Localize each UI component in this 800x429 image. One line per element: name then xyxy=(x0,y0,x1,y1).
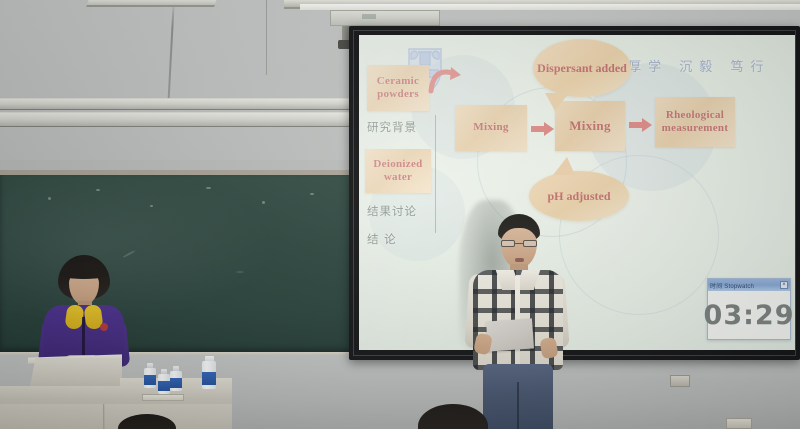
standing-presenter xyxy=(455,214,575,429)
presenter-hand-right xyxy=(539,337,558,359)
presenter-jeans-seam xyxy=(517,382,519,429)
callout-tail xyxy=(553,157,575,175)
flow-callout-ph-label: pH adjusted xyxy=(547,189,610,203)
close-icon[interactable]: × xyxy=(780,281,788,289)
screen-mount-bracket xyxy=(330,10,440,26)
flow-box-ceramic-powders: Ceramic powders xyxy=(367,65,429,111)
timer-value: 03:29 xyxy=(708,291,790,339)
wall-mounted-box xyxy=(670,375,690,387)
countdown-timer-window[interactable]: 时间 Stopwatch × 03:29 xyxy=(707,278,791,340)
timer-titlebar[interactable]: 时间 Stopwatch × xyxy=(708,279,790,291)
flow-callout-dispersant-added: Dispersant added xyxy=(533,39,631,97)
flow-box-rheological-measurement: Rheological measurement xyxy=(655,97,735,147)
flow-arrow-curved-icon xyxy=(427,65,465,97)
ceiling-fluorescent-light-left xyxy=(86,0,218,7)
screen-mount-label xyxy=(362,14,376,19)
timer-window-title: 时间 Stopwatch xyxy=(710,281,754,290)
flow-box-deionized-water: Deionized water xyxy=(365,149,431,193)
presenter-mouth xyxy=(515,258,524,262)
wall-plate xyxy=(726,418,752,429)
hoodie-logo xyxy=(100,323,108,331)
flow-box-mixing-1: Mixing xyxy=(455,105,527,151)
sliding-board-rail-lower xyxy=(0,112,352,127)
callout-tail xyxy=(545,93,569,111)
wall-crack-secondary xyxy=(266,0,267,75)
presenter-glasses xyxy=(501,240,537,247)
presenter-paper-notes xyxy=(486,318,534,351)
projected-slide: 大学 UNIVERSITY 明德 厚学 沉毅 笃行 研究背景 问题提出 研究设计… xyxy=(359,35,795,350)
seated-person-bangs xyxy=(60,263,108,279)
desk-front-left xyxy=(0,404,104,429)
classroom-scene: 大学 UNIVERSITY 明德 厚学 沉毅 笃行 研究背景 问题提出 研究设计… xyxy=(0,0,800,429)
flow-callout-dispersant-label: Dispersant added xyxy=(537,61,627,75)
sliding-board-rail-upper xyxy=(0,98,352,110)
desk-panel xyxy=(142,394,184,401)
presenter-face xyxy=(501,228,537,268)
